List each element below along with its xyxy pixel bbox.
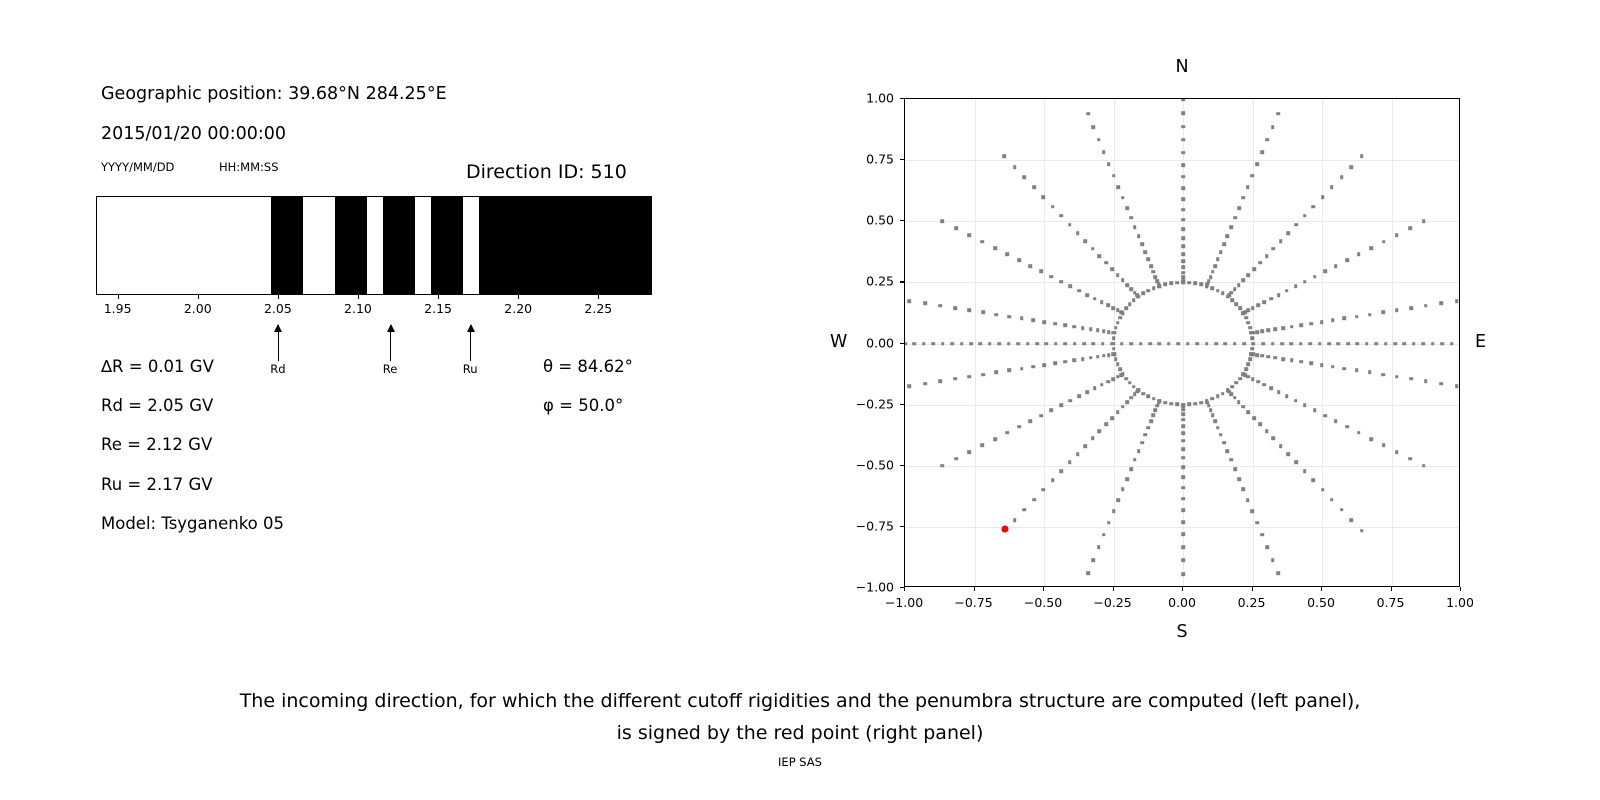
left-panel: Geographic position: 39.68°N 284.25°E 20… (0, 0, 760, 660)
sky-y-tick-label: 0.00 (842, 335, 894, 350)
sky-y-tick (900, 159, 904, 160)
sky-x-tick (1460, 587, 1461, 591)
sky-x-tick-label: 0.75 (1377, 595, 1405, 610)
sky-y-tick-label: 0.50 (842, 213, 894, 228)
right-panel: N S W E −1.00−0.75−0.50−0.250.000.250.50… (820, 0, 1600, 660)
theta-readout: θ = 84.62° (543, 357, 633, 376)
sky-x-tick-label: −1.00 (885, 595, 923, 610)
sky-y-tick (900, 220, 904, 221)
compass-label-south: S (1176, 622, 1187, 642)
sky-y-tick (900, 587, 904, 588)
arrow-up-icon (274, 324, 282, 332)
sky-y-tick-label: −0.75 (842, 518, 894, 533)
sky-x-tick (1321, 587, 1322, 591)
penumbra-forbidden-band (335, 197, 367, 294)
sky-y-tick (900, 281, 904, 282)
sky-plot-axes-ticks: −1.00−0.75−0.50−0.250.000.250.500.751.00… (904, 98, 1460, 587)
figure-caption: The incoming direction, for which the di… (0, 685, 1600, 749)
sky-y-tick-label: 0.25 (842, 274, 894, 289)
arrow-up-icon (467, 324, 475, 332)
sky-y-tick-label: 0.75 (842, 152, 894, 167)
sky-x-tick (974, 587, 975, 591)
re-readout: Re = 2.12 GV (101, 435, 212, 454)
penumbra-markers: RdReRu (96, 295, 652, 355)
sky-y-tick (900, 526, 904, 527)
sky-x-tick (1391, 587, 1392, 591)
sky-y-tick (900, 98, 904, 99)
penumbra-forbidden-band (271, 197, 303, 294)
sky-y-tick (900, 465, 904, 466)
sky-x-tick-label: 1.00 (1446, 595, 1474, 610)
penumbra-forbidden-band (431, 197, 463, 294)
sky-x-tick-label: −0.75 (954, 595, 992, 610)
sky-x-tick-label: −0.50 (1024, 595, 1062, 610)
sky-x-tick (904, 587, 905, 591)
caption-line-2: is signed by the red point (right panel) (0, 717, 1600, 749)
time-format-hint: HH:MM:SS (219, 160, 279, 174)
phi-readout: φ = 50.0° (543, 396, 623, 415)
sky-y-tick-label: 1.00 (842, 91, 894, 106)
rd-readout: Rd = 2.05 GV (101, 396, 213, 415)
penumbra-marker-label: Rd (270, 362, 285, 376)
sky-x-tick (1043, 587, 1044, 591)
compass-label-east: E (1475, 332, 1486, 352)
figure-canvas: Geographic position: 39.68°N 284.25°E 20… (0, 0, 1600, 800)
model-readout: Model: Tsyganenko 05 (101, 514, 284, 533)
sky-x-tick-label: 0.00 (1168, 595, 1196, 610)
penumbra-marker-label: Ru (463, 362, 478, 376)
date-format-hint: YYYY/MM/DD (101, 160, 174, 174)
penumbra-marker-label: Re (383, 362, 398, 376)
sky-x-tick-label: 0.50 (1307, 595, 1335, 610)
footer-credit: IEP SAS (0, 755, 1600, 769)
penumbra-plot (96, 196, 652, 295)
caption-line-1: The incoming direction, for which the di… (0, 685, 1600, 717)
penumbra-forbidden-band (479, 197, 652, 294)
sky-x-tick (1252, 587, 1253, 591)
sky-x-tick (1113, 587, 1114, 591)
sky-x-tick (1182, 587, 1183, 591)
ru-readout: Ru = 2.17 GV (101, 475, 213, 494)
sky-y-tick-label: −0.50 (842, 457, 894, 472)
sky-x-tick-label: 0.25 (1238, 595, 1266, 610)
delta-r-readout: ∆R = 0.01 GV (101, 357, 214, 376)
geographic-position-label: Geographic position: 39.68°N 284.25°E (101, 84, 447, 104)
penumbra-forbidden-band (383, 197, 415, 294)
datetime-label: 2015/01/20 00:00:00 (101, 124, 286, 144)
sky-y-tick (900, 343, 904, 344)
sky-y-tick-label: −0.25 (842, 396, 894, 411)
sky-y-tick-label: −1.00 (842, 580, 894, 595)
sky-y-tick (900, 404, 904, 405)
arrow-up-icon (387, 324, 395, 332)
compass-label-north: N (1175, 57, 1188, 77)
sky-x-tick-label: −0.25 (1093, 595, 1131, 610)
direction-id-label: Direction ID: 510 (466, 161, 627, 183)
